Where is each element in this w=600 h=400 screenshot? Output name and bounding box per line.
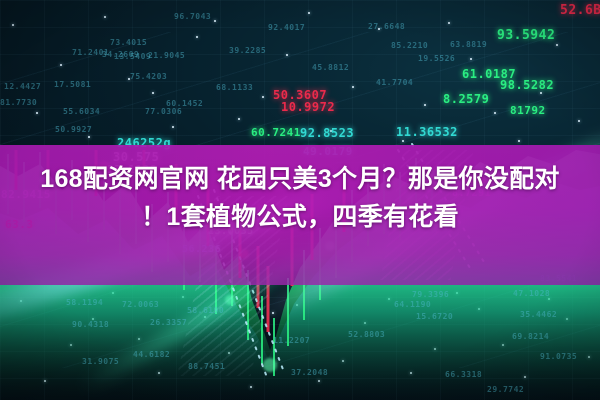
vignette-overlay [0,0,600,400]
banner-image: 93.594261.018798.52828.25798179250.36071… [0,0,600,400]
